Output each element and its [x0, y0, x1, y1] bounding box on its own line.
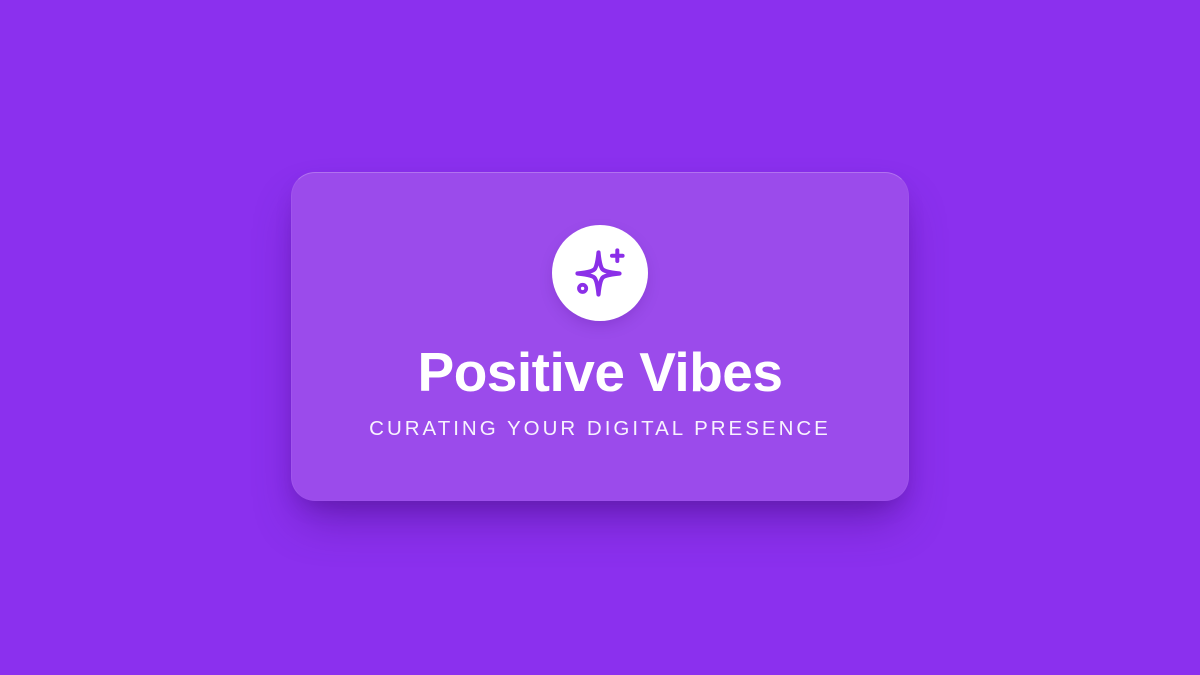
sparkle-star-icon: [571, 244, 629, 302]
slide-canvas: Positive Vibes CURATING YOUR DIGITAL PRE…: [0, 0, 1200, 675]
icon-badge: [552, 225, 648, 321]
card-subtitle: CURATING YOUR DIGITAL PRESENCE: [369, 417, 831, 442]
hero-card: Positive Vibes CURATING YOUR DIGITAL PRE…: [291, 172, 909, 501]
card-title: Positive Vibes: [418, 343, 783, 401]
